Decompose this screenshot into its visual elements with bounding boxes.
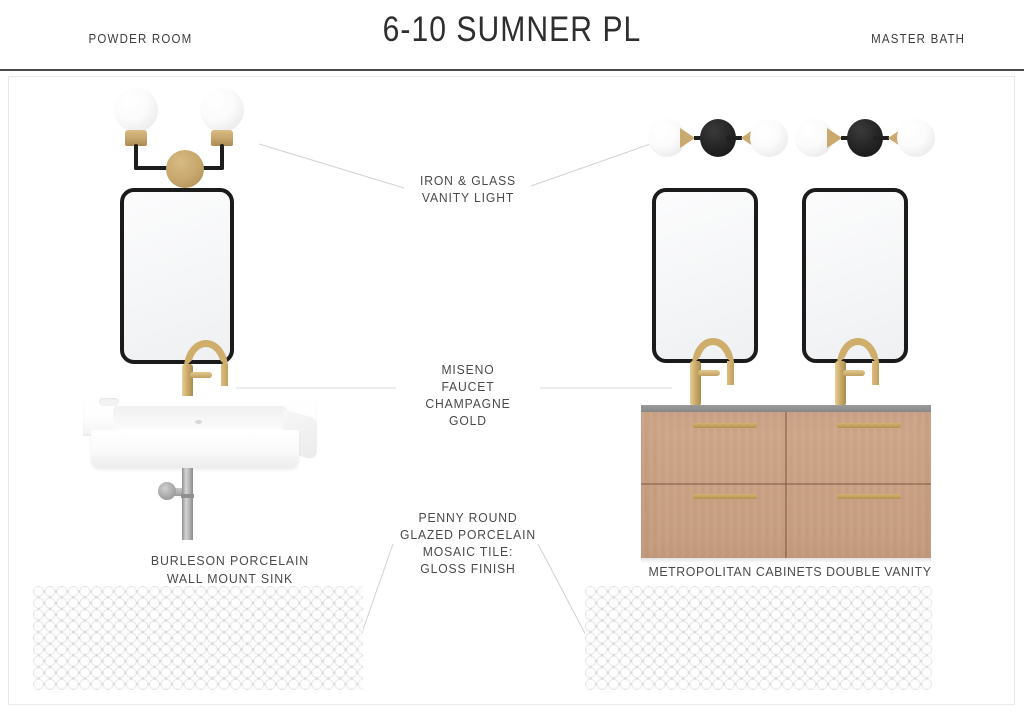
caption-sink: BURLESON PORCELAIN WALL MOUNT SINK	[69, 552, 392, 588]
master-bath-label: MASTER BATH	[871, 32, 965, 46]
glass-globe-icon	[114, 88, 158, 132]
callout-line: GLAZED PORCELAIN	[373, 526, 563, 543]
vanity-light-right-1[interactable]	[648, 116, 788, 160]
faucet-right-1[interactable]	[688, 338, 742, 408]
page-title: 6-10 SUMNER PL	[72, 10, 953, 50]
callout-vanity-light: IRON & GLASS VANITY LIGHT	[373, 172, 563, 206]
header-divider	[0, 69, 1024, 71]
faucet-spout-drop	[727, 361, 734, 385]
board-header: POWDER ROOM 6-10 SUMNER PL MASTER BATH	[0, 0, 1024, 70]
cabinet-seam-vertical	[785, 412, 787, 558]
penny-tile-sample-left[interactable]	[33, 586, 363, 690]
callout-line: CHAMPAGNE	[392, 395, 544, 412]
vanity-countertop	[641, 405, 931, 412]
vanity-light-left[interactable]	[104, 88, 276, 188]
vanity-light-right-2[interactable]	[795, 116, 935, 160]
drawer-pull[interactable]	[693, 494, 757, 499]
glass-globe-icon	[897, 119, 935, 157]
faucet-lever[interactable]	[698, 370, 720, 376]
mirror-right-2[interactable]	[802, 188, 908, 363]
mirror-left[interactable]	[120, 188, 234, 364]
penny-tile-sample-right[interactable]	[585, 586, 932, 690]
callout-line: VANITY LIGHT	[373, 189, 563, 206]
cabinet-seam-horizontal	[641, 483, 931, 485]
pipe-escutcheon	[158, 482, 176, 500]
callout-line: MOSAIC TILE:	[373, 543, 563, 560]
mirror-right-1[interactable]	[652, 188, 758, 363]
design-board: POWDER ROOM 6-10 SUMNER PL MASTER BATH	[0, 0, 1024, 713]
callout-tile: PENNY ROUND GLAZED PORCELAIN MOSAIC TILE…	[373, 509, 563, 577]
callout-faucet: MISENO FAUCET CHAMPAGNE GOLD	[392, 361, 544, 429]
sink-drain	[195, 420, 202, 424]
faucet-body	[835, 361, 846, 406]
callout-line: MISENO	[392, 361, 544, 378]
drawer-pull[interactable]	[693, 423, 757, 428]
faucet-lever[interactable]	[843, 370, 865, 376]
faucet-right-2[interactable]	[833, 338, 887, 408]
brass-cone	[680, 128, 695, 148]
drain-pipe-vertical	[182, 468, 193, 540]
brass-cone	[827, 128, 842, 148]
callout-line: IRON & GLASS	[373, 172, 563, 189]
sink-overflow	[99, 398, 119, 406]
brass-backplate	[166, 150, 204, 188]
glass-globe-icon	[200, 88, 244, 132]
iron-rod	[726, 136, 742, 140]
caption-vanity: METROPOLITAN CABINETS DOUBLE VANITY	[610, 563, 971, 581]
callout-line: GOLD	[392, 412, 544, 429]
double-vanity[interactable]	[641, 405, 931, 558]
faucet-left[interactable]	[180, 340, 236, 402]
glass-globe-icon	[750, 119, 788, 157]
faucet-spout-drop	[221, 364, 228, 386]
caption-line: METROPOLITAN CABINETS DOUBLE VANITY	[610, 563, 971, 581]
faucet-lever[interactable]	[190, 372, 212, 378]
pipe-ring	[181, 494, 194, 498]
drawer-pull[interactable]	[837, 494, 901, 499]
faucet-spout-drop	[872, 361, 879, 385]
iron-rod	[873, 136, 889, 140]
faucet-body	[690, 361, 701, 406]
caption-line: BURLESON PORCELAIN	[69, 552, 392, 570]
caption-line: WALL MOUNT SINK	[69, 570, 392, 588]
callout-line: GLOSS FINISH	[373, 560, 563, 577]
callout-line: PENNY ROUND	[373, 509, 563, 526]
callout-line: FAUCET	[392, 378, 544, 395]
sink-apron	[91, 430, 299, 468]
drawer-pull[interactable]	[837, 423, 901, 428]
wall-mount-sink[interactable]	[83, 396, 317, 478]
sink-p-trap	[158, 468, 214, 540]
